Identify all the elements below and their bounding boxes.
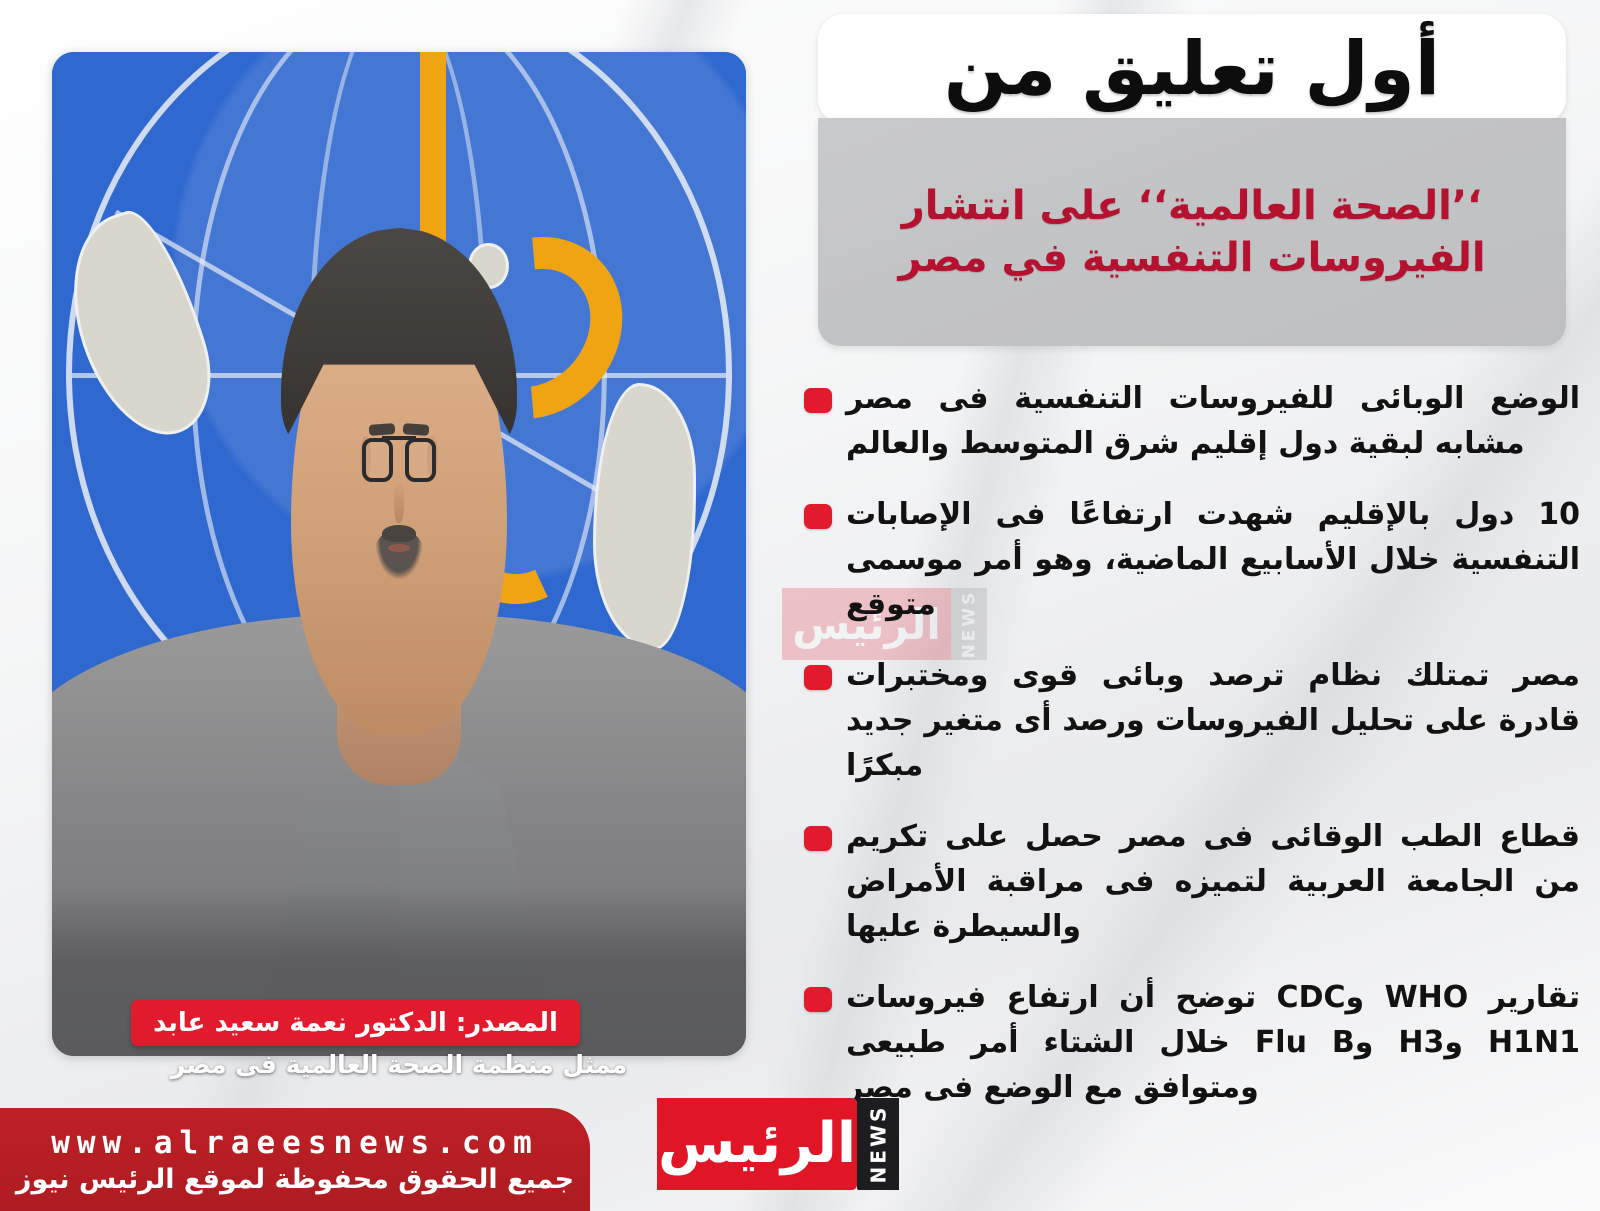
photo-role-text: ممثل منظمة الصحة العالمية فى مصر — [52, 1050, 746, 1079]
mouth — [388, 544, 410, 552]
eyebrow-left — [369, 423, 395, 435]
lens-right — [405, 438, 436, 481]
lens-left — [362, 438, 393, 481]
bullet-text: تقارير WHO وCDC توضح أن ارتفاع فيروسات H… — [842, 975, 1580, 1110]
bullet-text: الوضع الوبائى للفيروسات التنفسية فى مصر … — [842, 376, 1580, 466]
bullet-marker-icon — [804, 504, 832, 529]
brand-news-label: NEWS — [866, 1105, 890, 1184]
photo-source-badge: المصدر: الدكتور نعمة سعيد عابد — [131, 1000, 580, 1046]
list-item: الوضع الوبائى للفيروسات التنفسية فى مصر … — [790, 376, 1580, 466]
brand-logo: NEWS الرئيس — [657, 1098, 899, 1190]
moustache — [382, 525, 416, 542]
headline-line-3: الفيروسات التنفسية في مصر — [898, 235, 1485, 281]
website-url[interactable]: www.alraeesnews.com — [51, 1125, 539, 1161]
brand-name-label: الرئيس — [658, 1116, 856, 1172]
headline-line-1: أول تعليق من — [944, 32, 1440, 106]
glasses-bridge — [382, 436, 416, 440]
footer-bar: www.alraeesnews.com جميع الحقوق محفوظة ل… — [0, 1108, 590, 1211]
bullet-marker-icon — [804, 388, 832, 413]
list-item: مصر تمتلك نظام ترصد وبائى قوى ومختبرات ق… — [790, 653, 1580, 788]
headline-bottom-panel: ‘’الصحة العالمية‘‘ على انتشار الفيروسات … — [818, 118, 1566, 346]
eyeglasses-icon — [362, 438, 435, 481]
infographic-canvas: المصدر: الدكتور نعمة سعيد عابد ممثل منظم… — [0, 0, 1600, 1211]
list-item: تقارير WHO وCDC توضح أن ارتفاع فيروسات H… — [790, 975, 1580, 1110]
bullet-marker-icon — [804, 826, 832, 851]
eyebrow-right — [403, 423, 429, 435]
photo-source-text: المصدر: الدكتور نعمة سعيد عابد — [153, 1008, 558, 1038]
nose — [394, 479, 405, 522]
list-item: قطاع الطب الوقائى فى مصر حصل على تكريم م… — [790, 814, 1580, 949]
bullet-marker-icon — [804, 665, 832, 690]
bullet-text: 10 دول بالإقليم شهدت ارتفاعًا فى الإصابا… — [842, 492, 1580, 627]
headline-line-2: ‘’الصحة العالمية‘‘ على انتشار — [902, 183, 1482, 229]
brand-news-strip: NEWS — [857, 1098, 899, 1190]
bullet-marker-icon — [804, 987, 832, 1012]
bullet-text: قطاع الطب الوقائى فى مصر حصل على تكريم م… — [842, 814, 1580, 949]
brand-name-box: الرئيس — [657, 1098, 857, 1190]
list-item: 10 دول بالإقليم شهدت ارتفاعًا فى الإصابا… — [790, 492, 1580, 627]
copyright-text: جميع الحقوق محفوظة لموقع الرئيس نيوز — [16, 1164, 574, 1195]
bullet-list: الوضع الوبائى للفيروسات التنفسية فى مصر … — [790, 376, 1580, 1136]
headline-top-panel: أول تعليق من — [818, 14, 1566, 124]
bullet-text: مصر تمتلك نظام ترصد وبائى قوى ومختبرات ق… — [842, 653, 1580, 788]
portrait-photo — [52, 52, 746, 1056]
